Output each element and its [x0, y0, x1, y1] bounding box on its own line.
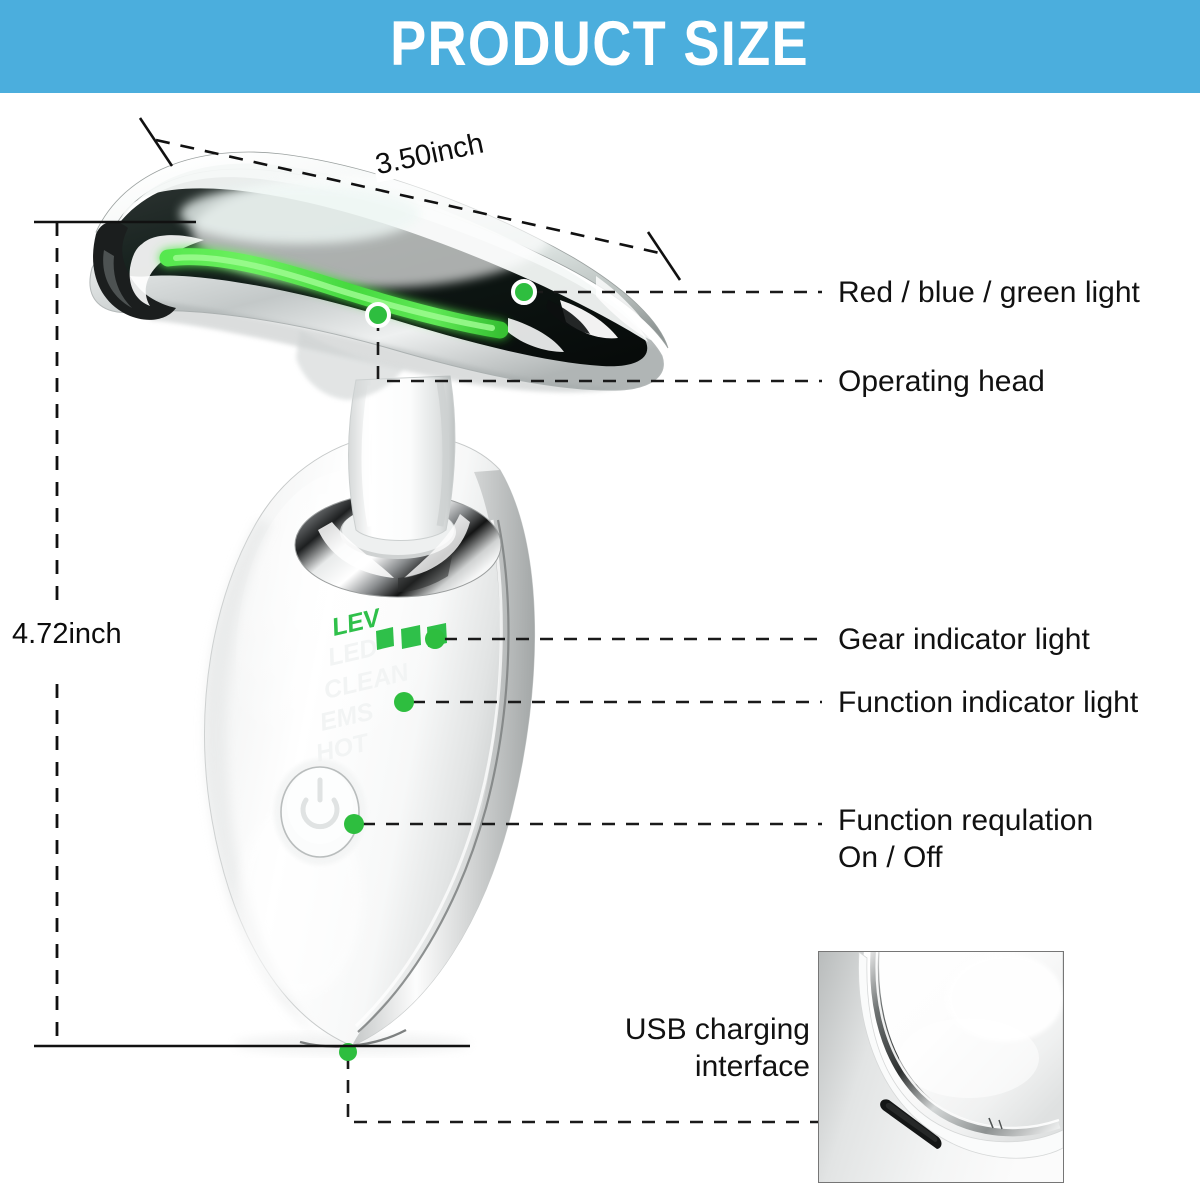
callout-label-function-regulation: Function requlation On / Off — [838, 803, 1093, 876]
callout-label-gear-indicator-light: Gear indicator light — [838, 622, 1090, 659]
marker-operating-head — [367, 304, 389, 326]
device-neck — [349, 376, 455, 541]
marker-function-indicator-light — [394, 692, 414, 712]
mode-label-ems: EMS — [317, 697, 376, 737]
power-icon — [303, 780, 337, 827]
callout-line-operating-head — [378, 318, 822, 381]
gear-indicator-bars — [376, 623, 447, 650]
mode-label-led: LED — [325, 633, 380, 672]
chrome-collar-ring — [295, 493, 501, 597]
usb-closeup-image — [819, 952, 1063, 1182]
dimension-tick-width-right — [648, 232, 680, 280]
dimension-tick-width-left — [140, 118, 172, 166]
callout-markers — [339, 281, 535, 1061]
mode-label-lev: LEV — [329, 603, 385, 642]
mode-label-hot: HOT — [313, 728, 373, 768]
callout-label-usb-charging-interface: USB charging interface — [560, 1012, 810, 1085]
mode-label-clean: CLEAN — [321, 658, 412, 705]
marker-function-regulation — [344, 814, 364, 834]
infographic-canvas: PRODUCT SIZE — [0, 0, 1200, 1200]
page-title: PRODUCT SIZE — [391, 13, 810, 80]
marker-gear-indicator-light — [425, 629, 445, 649]
header-banner: PRODUCT SIZE — [0, 0, 1200, 93]
usb-closeup-inset — [818, 951, 1064, 1183]
control-panel: LEV LED CLEAN EMS HOT — [313, 603, 447, 768]
dimension-label-height: 4.72inch — [10, 618, 124, 651]
callout-label-red-blue-green-light: Red / blue / green light — [838, 275, 1140, 312]
device-body — [205, 434, 535, 1054]
marker-red-blue-green-light — [513, 281, 535, 303]
marker-usb-charging-interface — [339, 1043, 357, 1061]
callout-label-function-indicator-light: Function indicator light — [838, 685, 1138, 722]
dimension-lines — [34, 118, 680, 1046]
callout-lines — [348, 292, 822, 1122]
dimension-label-width: 3.50inch — [371, 127, 489, 183]
led-light-strip — [168, 257, 500, 330]
operating-head — [90, 152, 668, 400]
power-button[interactable] — [274, 759, 366, 865]
callout-label-operating-head: Operating head — [838, 364, 1045, 401]
